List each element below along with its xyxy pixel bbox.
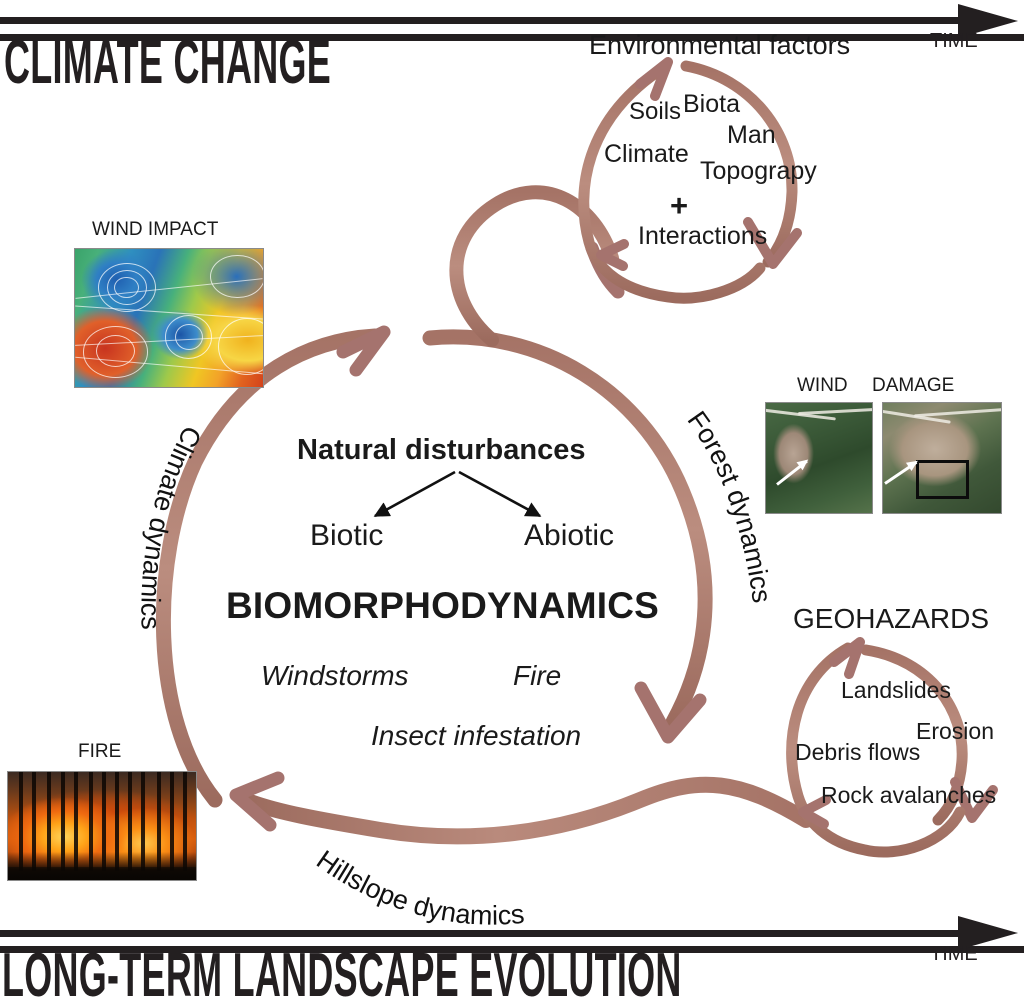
wind-damage-image-before — [765, 402, 873, 514]
core-branch-abiotic: Abiotic — [524, 521, 614, 551]
wind-damage-caption-b: DAMAGE — [872, 375, 954, 397]
geohazard-rock-avalanches: Rock avalanches — [821, 784, 996, 807]
disturbance-branch-arrows — [375, 472, 540, 516]
core-process-fire: Fire — [513, 662, 561, 690]
wind-impact-image — [74, 248, 264, 388]
env-item-biota: Biota — [683, 92, 740, 117]
env-item-soils: Soils — [629, 100, 681, 124]
core-heading: Natural disturbances — [297, 436, 585, 465]
connector-to-environmental-factors — [456, 192, 618, 340]
environmental-factors-title: Environmental factors — [589, 32, 850, 59]
svg-text:Climate dynamics: Climate dynamics — [135, 421, 207, 630]
env-plus-sign: + — [670, 190, 688, 221]
diagram-canvas: CLIMATE CHANGE TIME LONG-TERM LANDSCAPE … — [0, 0, 1024, 997]
geohazard-erosion: Erosion — [916, 720, 994, 743]
fire-image — [7, 771, 197, 881]
wind-damage-caption-a: WIND — [797, 375, 848, 397]
core-branch-biotic: Biotic — [310, 521, 383, 551]
arc-label-climate-dynamics: Climate dynamics — [110, 400, 310, 780]
time-label-bottom: TIME — [930, 944, 978, 964]
env-item-man: Man — [727, 123, 776, 148]
wind-impact-caption: WIND IMPACT — [92, 219, 218, 241]
main-cycle-arc-hillslope — [236, 778, 806, 836]
wind-damage-image-after — [882, 402, 1002, 514]
arc-label-hillslope-dynamics: Hillslope dynamics — [300, 840, 640, 960]
fire-caption: FIRE — [78, 741, 121, 763]
env-item-topography: Topograpy — [700, 159, 817, 184]
core-process-insect-infestation: Insect infestation — [371, 722, 581, 750]
geohazard-landslides: Landslides — [841, 679, 951, 702]
env-interactions-label: Interactions — [638, 224, 767, 249]
time-label-top: TIME — [930, 31, 978, 51]
env-item-climate: Climate — [604, 142, 689, 167]
top-banner-title: CLIMATE CHANGE — [4, 27, 331, 98]
svg-text:Hillslope dynamics: Hillslope dynamics — [311, 844, 525, 930]
svg-text:Forest dynamics: Forest dynamics — [682, 406, 777, 605]
